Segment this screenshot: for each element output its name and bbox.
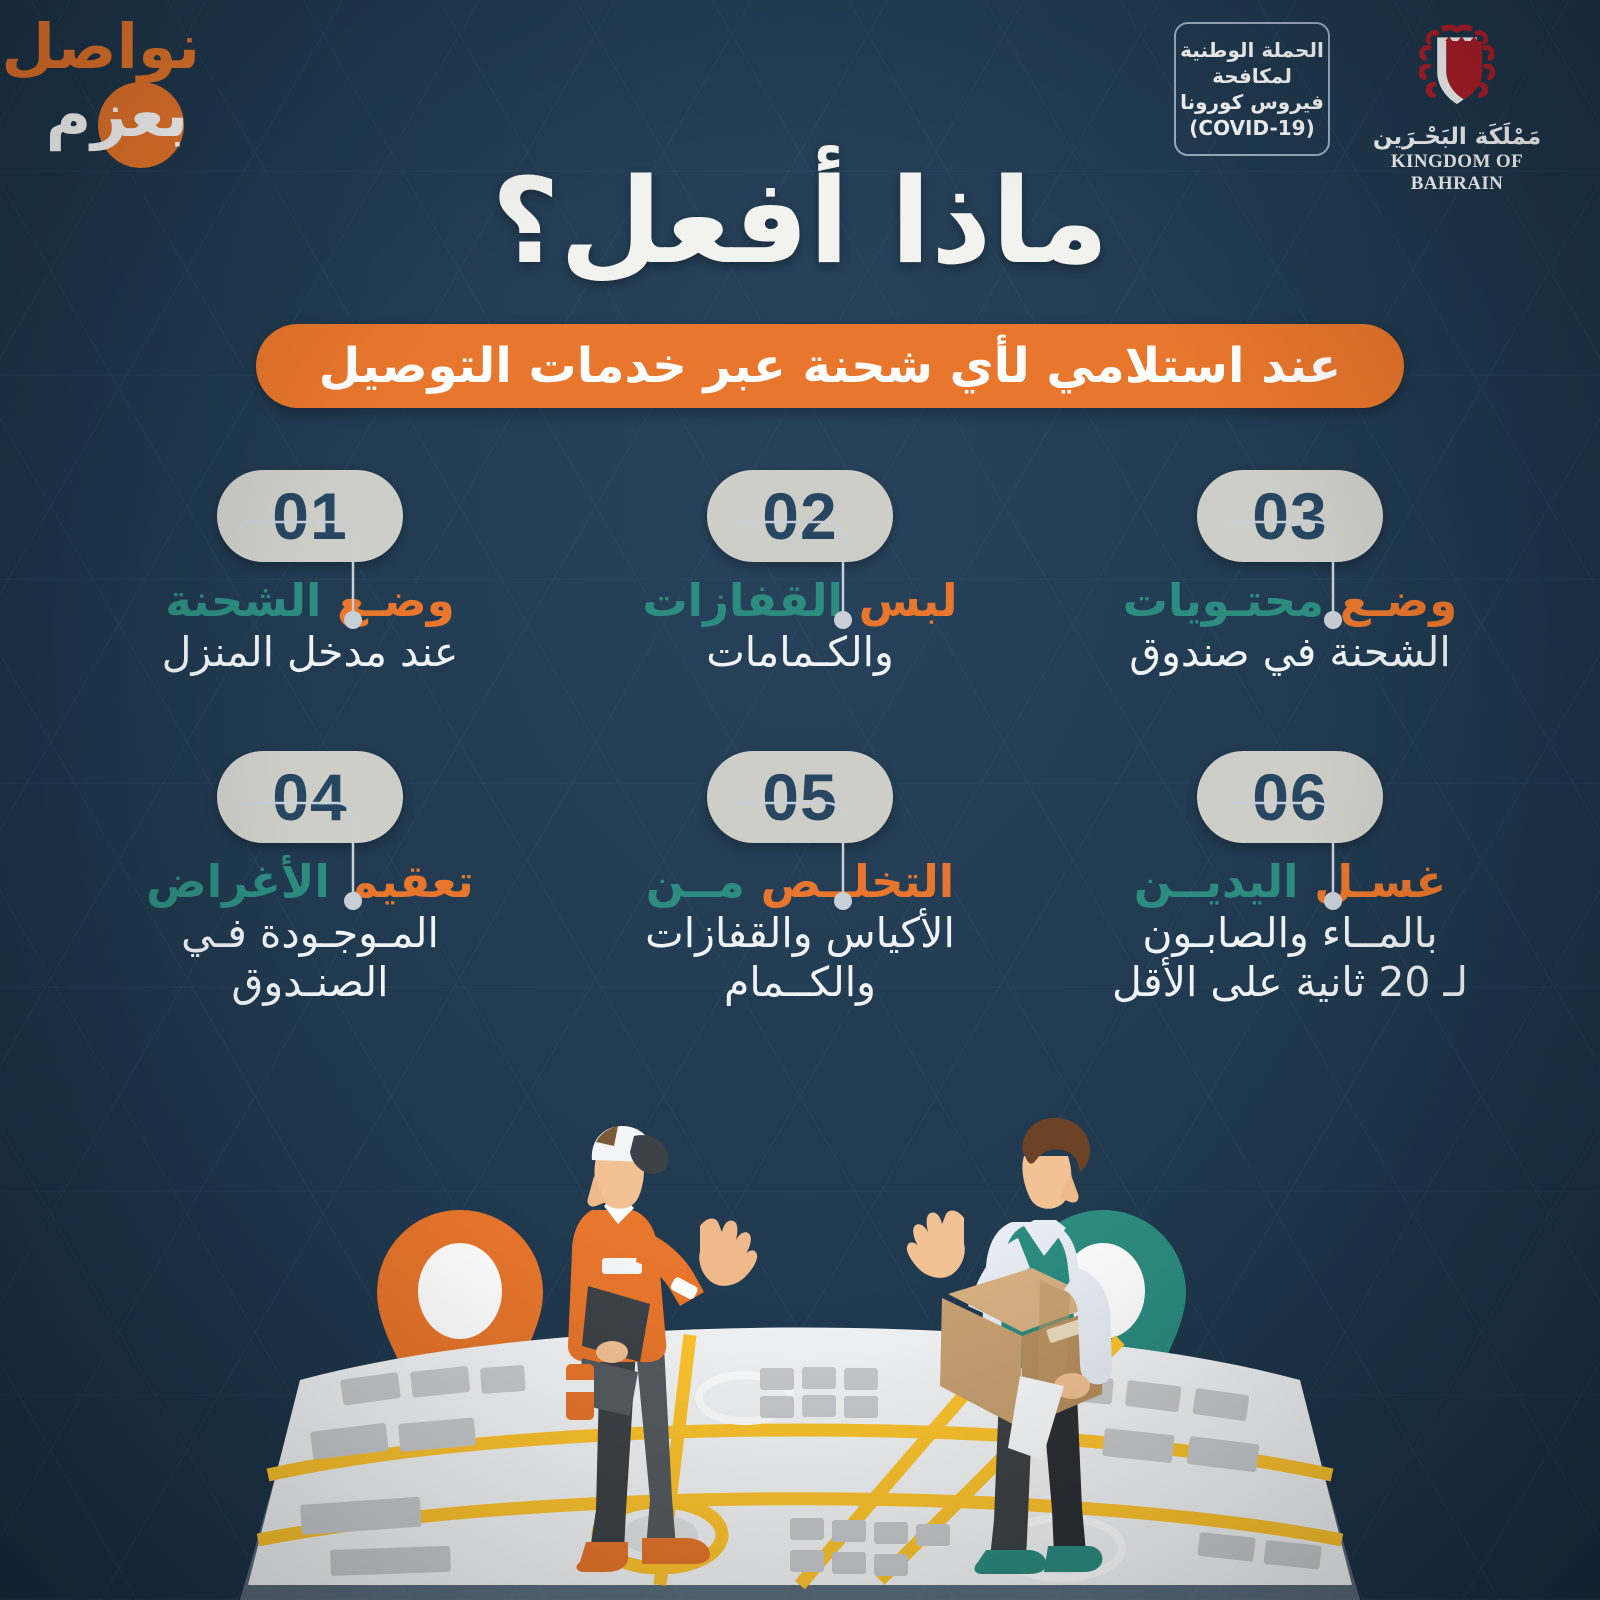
connector-line-icon bbox=[731, 508, 861, 640]
campaign-line-4: (COVID-19) bbox=[1189, 117, 1314, 140]
courier-hand-wave bbox=[699, 1219, 757, 1286]
step-card: 01 وضـع الشحنة عند مدخل المنزل bbox=[65, 470, 555, 677]
courier-hand-hold bbox=[596, 1341, 628, 1363]
customer-head bbox=[1022, 1156, 1071, 1209]
page-title: ماذا أفعل؟ bbox=[0, 152, 1600, 290]
campaign-line-3: فيروس كورونا bbox=[1180, 91, 1324, 114]
step-card: 06 غسـل اليديــن بالمــاء والصابـون لـ 2… bbox=[1045, 751, 1535, 1006]
step-keyword-primary: لبس bbox=[859, 574, 958, 627]
logo-line-1: نواصل bbox=[1, 16, 200, 78]
step-number-badge: 04 bbox=[217, 751, 403, 843]
step-description-line: لـ 20 ثانية على الأقل bbox=[1051, 958, 1529, 1006]
connector-line-icon bbox=[241, 789, 371, 921]
step-description-line: الصنـدوق bbox=[71, 958, 549, 1006]
step-description-line: والكــمام bbox=[561, 958, 1039, 1006]
steps-row-top: 03 وضـع محتـويات الشحنة في صندوق 02 bbox=[0, 470, 1600, 677]
campaign-logo: نواصل بعزم bbox=[18, 10, 248, 175]
connector-line-icon bbox=[1221, 508, 1351, 640]
step-number-badge: 01 bbox=[217, 470, 403, 562]
step-card: 03 وضـع محتـويات الشحنة في صندوق bbox=[1045, 470, 1535, 677]
step-card: 04 تعقيم الأغراض المـوجـودة فـي الصنـدوق bbox=[65, 751, 555, 1006]
courier-bag-stripe bbox=[566, 1380, 594, 1392]
subtitle-text: عند استلامي لأي شحنة عبر خدمات التوصيل bbox=[319, 338, 1341, 394]
step-number-badge: 05 bbox=[707, 751, 893, 843]
step-keyword-primary: وضـع bbox=[1340, 574, 1458, 627]
step-description: المـوجـودة فـي الصنـدوق bbox=[71, 909, 549, 1006]
customer-shoe-left bbox=[975, 1550, 1047, 1574]
delivery-illustration bbox=[0, 1080, 1600, 1600]
step-number-badge: 06 bbox=[1197, 751, 1383, 843]
customer-shoe-right bbox=[1044, 1546, 1102, 1572]
steps-section: 03 وضـع محتـويات الشحنة في صندوق 02 bbox=[0, 470, 1600, 1006]
logo-line-2: بعزم bbox=[46, 84, 188, 146]
step-card: 02 لبس القفازات والكـمامات bbox=[555, 470, 1045, 677]
bahrain-coat-of-arms-icon bbox=[1402, 14, 1512, 122]
connector-line-icon bbox=[1221, 789, 1351, 921]
subtitle-banner: عند استلامي لأي شحنة عبر خدمات التوصيل bbox=[256, 324, 1404, 408]
courier-shoe-right bbox=[642, 1538, 710, 1564]
step-number-badge: 03 bbox=[1197, 470, 1383, 562]
steps-row-bottom: 06 غسـل اليديــن بالمــاء والصابـون لـ 2… bbox=[0, 751, 1600, 1006]
bahrain-arabic-label: مَمْلَكَة البَحْـرَين bbox=[1352, 124, 1562, 150]
customer-hand-wave bbox=[907, 1211, 965, 1278]
campaign-line-1: الحملة الوطنية bbox=[1180, 39, 1324, 62]
step-number-badge: 02 bbox=[707, 470, 893, 562]
connector-line-icon bbox=[731, 789, 861, 921]
step-card: 05 التخلــص مــن الأكياس والقفازات والكـ… bbox=[555, 751, 1045, 1006]
connector-line-icon bbox=[241, 508, 371, 640]
infographic-poster: نواصل بعزم الحملة الوطنية لمكافحة فيروس … bbox=[0, 0, 1600, 1600]
step-description: بالمــاء والصابـون لـ 20 ثانية على الأقل bbox=[1051, 909, 1529, 1006]
campaign-badge: الحملة الوطنية لمكافحة فيروس كورونا (COV… bbox=[1174, 22, 1330, 156]
courier-name-badge bbox=[602, 1258, 642, 1274]
campaign-line-2: لمكافحة bbox=[1212, 65, 1292, 88]
step-description: الأكياس والقفازات والكــمام bbox=[561, 909, 1039, 1006]
map-sheet bbox=[240, 1328, 1360, 1600]
